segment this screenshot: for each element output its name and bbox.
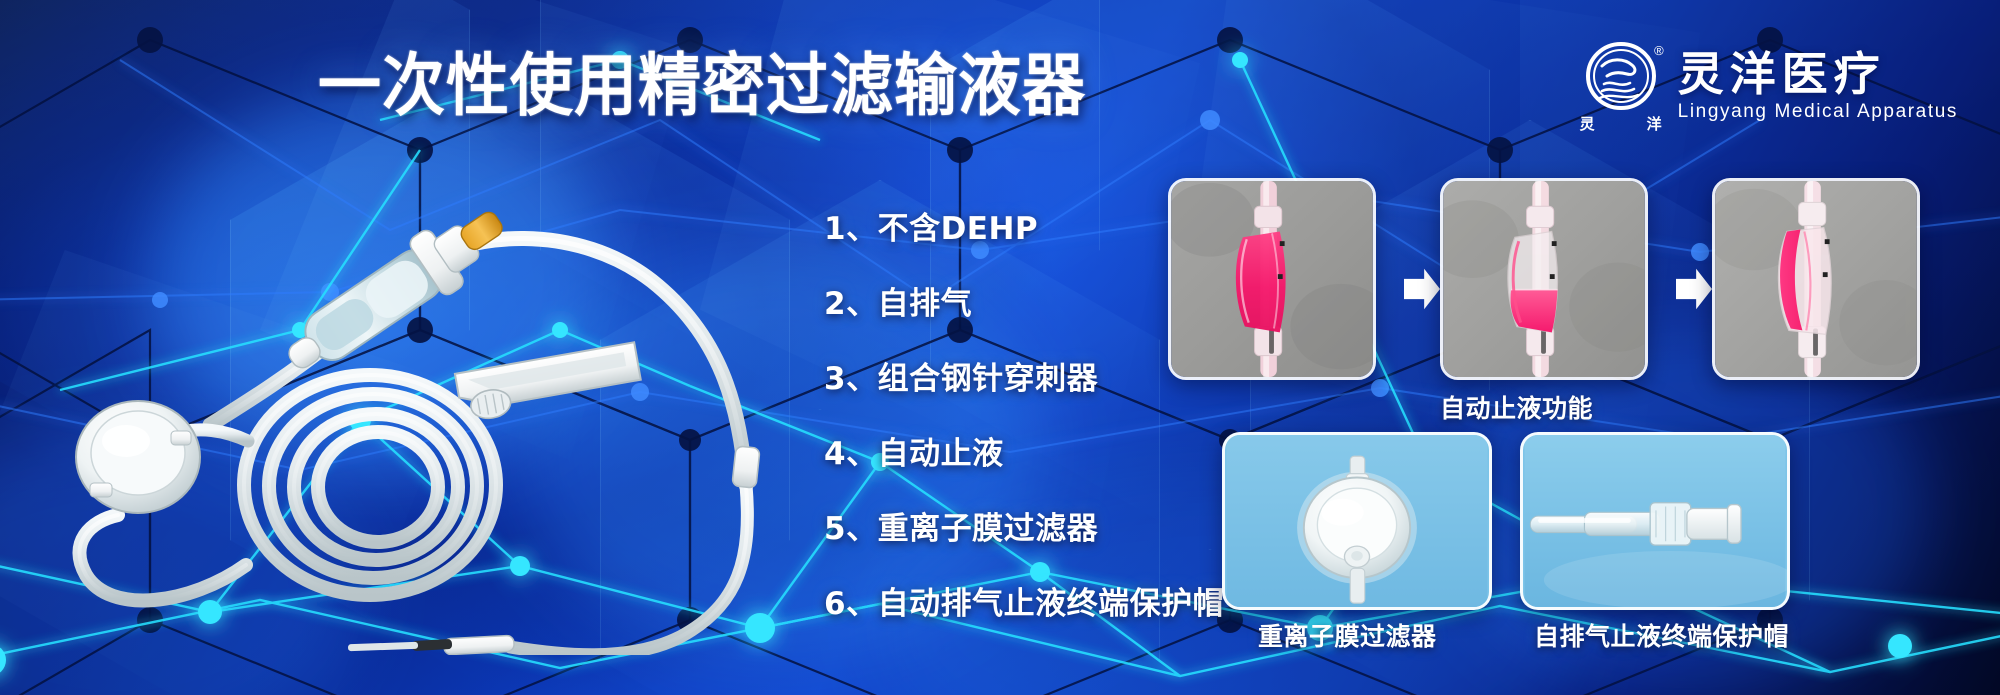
logo-text-block: 灵洋医疗 Lingyang Medical Apparatus <box>1678 51 1958 121</box>
inline-connector <box>732 446 760 488</box>
round-filter <box>76 401 200 513</box>
main-product-image <box>40 185 780 655</box>
brand-logo: ® 灵 洋 灵洋医疗 Lingyang Medical Apparatus <box>1580 38 1958 134</box>
drip-chamber <box>273 192 518 388</box>
logo-mark-char-left: 灵 <box>1580 113 1595 134</box>
feature-item-6: 6、自动排气止液终端保护帽 <box>824 589 1224 620</box>
logo-mark-char-right: 洋 <box>1647 113 1662 134</box>
caption-heavy-ion-filter: 重离子膜过滤器 <box>1258 624 1437 649</box>
feature-item-2: 2、自排气 <box>824 289 1224 320</box>
panel-heavy-ion-filter <box>1222 432 1492 610</box>
sequence-frame-1 <box>1168 178 1376 380</box>
page-title: 一次性使用精密过滤输液器 <box>318 52 1086 120</box>
brand-name-cn: 灵洋医疗 <box>1678 51 1958 99</box>
logo-emblem-icon: ® 灵 洋 <box>1580 38 1662 134</box>
feature-item-4: 4、自动止液 <box>824 439 1224 470</box>
feature-item-5: 5、重离子膜过滤器 <box>824 514 1224 545</box>
spike-connector <box>348 635 514 655</box>
sequence-frame-2 <box>1440 178 1648 380</box>
feature-item-1: 1、不含DEHP <box>824 214 1224 245</box>
product-banner: 一次性使用精密过滤输液器 ® 灵 洋 灵洋医疗 Lingyang Medical… <box>0 0 2000 695</box>
title-block: 一次性使用精密过滤输液器 <box>318 52 1086 115</box>
brand-name-en: Lingyang Medical Apparatus <box>1678 102 1958 121</box>
feature-item-3: 3、组合钢针穿刺器 <box>824 364 1224 395</box>
caption-terminal-cap: 自排气止液终端保护帽 <box>1534 624 1789 649</box>
logo-mark-caption: 灵 洋 <box>1580 113 1662 134</box>
sequence-caption: 自动止液功能 <box>1440 396 1593 421</box>
panel-terminal-cap <box>1520 432 1790 610</box>
sequence-frame-3 <box>1712 178 1920 380</box>
feature-list: 1、不含DEHP 2、自排气 3、组合钢针穿刺器 4、自动止液 5、重离子膜过滤… <box>824 214 1224 620</box>
registered-mark-icon: ® <box>1654 44 1664 57</box>
roller-clamp <box>455 342 643 423</box>
